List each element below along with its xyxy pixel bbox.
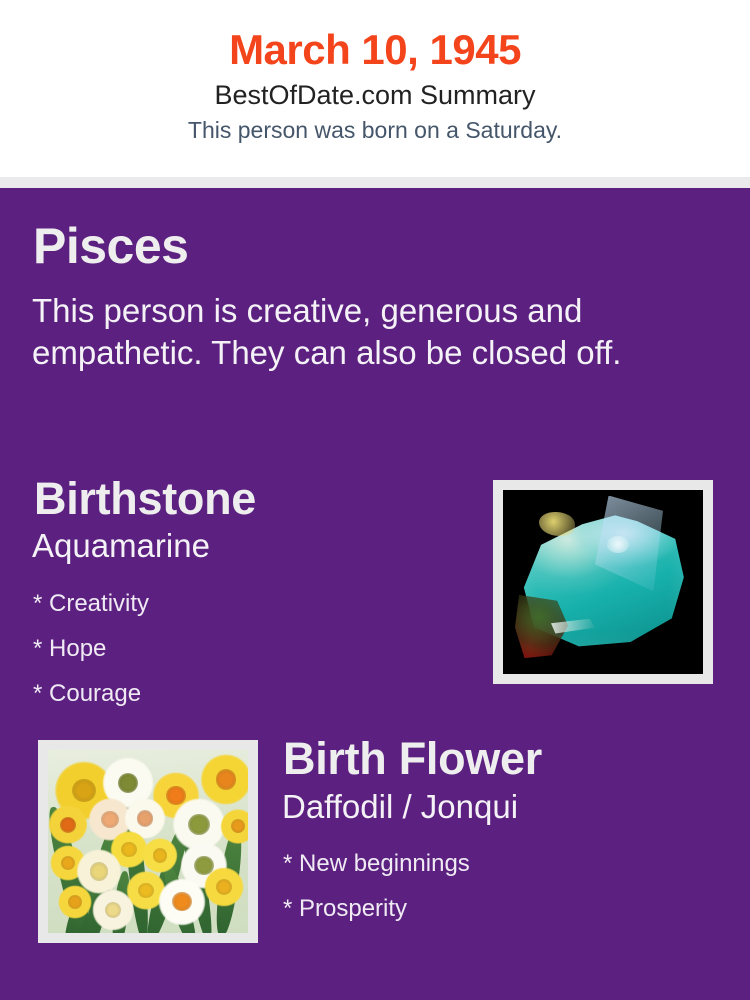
bloom-center bbox=[60, 817, 76, 833]
daffodil-bloom bbox=[48, 805, 88, 845]
daffodil-bloom bbox=[142, 838, 178, 874]
flower-photo-inner bbox=[48, 750, 248, 933]
list-item: * Hope bbox=[33, 626, 149, 671]
daffodil-bloom bbox=[200, 754, 248, 805]
zodiac-sign-title: Pisces bbox=[33, 221, 188, 271]
daffodil-bloom bbox=[58, 885, 92, 919]
birth-flower-heading: Birth Flower bbox=[283, 736, 542, 781]
daffodil-bloom bbox=[158, 878, 206, 925]
bloom-center bbox=[90, 862, 108, 880]
bloom-center bbox=[101, 811, 119, 828]
birth-flower-name: Daffodil / Jonqui bbox=[282, 789, 518, 825]
list-item: * New beginnings bbox=[283, 841, 470, 886]
bloom-center bbox=[61, 856, 75, 870]
page-title-date: March 10, 1945 bbox=[0, 0, 750, 74]
bloom-center bbox=[137, 810, 154, 827]
birthstone-photo-inner bbox=[503, 490, 703, 674]
bloom-center bbox=[118, 773, 139, 794]
birth-day-of-week-text: This person was born on a Saturday. bbox=[0, 111, 750, 143]
bloom-center bbox=[72, 779, 96, 803]
bloom-center bbox=[231, 819, 245, 833]
details-panel: Pisces This person is creative, generous… bbox=[0, 188, 750, 1000]
daffodil-bloom bbox=[92, 889, 134, 931]
bloom-center bbox=[105, 902, 122, 919]
bloom-center bbox=[138, 883, 154, 899]
header-divider bbox=[0, 177, 750, 188]
zodiac-description: This person is creative, generous and em… bbox=[32, 290, 712, 374]
site-summary-label: BestOfDate.com Summary bbox=[0, 74, 750, 111]
bloom-center bbox=[68, 895, 82, 908]
birthstone-heading: Birthstone bbox=[34, 476, 256, 521]
daffodil-cluster-art bbox=[48, 750, 248, 933]
birth-flower-image bbox=[38, 740, 258, 943]
birth-flower-traits-list: * New beginnings * Prosperity bbox=[283, 841, 470, 931]
crystal-highlight bbox=[607, 536, 629, 553]
bloom-center bbox=[153, 848, 167, 862]
list-item: * Prosperity bbox=[283, 886, 470, 931]
birthstone-name: Aquamarine bbox=[32, 528, 210, 564]
bloom-center bbox=[216, 769, 237, 790]
birthstone-image bbox=[493, 480, 713, 684]
summary-card: March 10, 1945 BestOfDate.com Summary Th… bbox=[0, 0, 750, 1000]
birthstone-traits-list: * Creativity * Hope * Courage bbox=[33, 581, 149, 716]
daffodil-bloom bbox=[204, 867, 244, 907]
daffodil-bloom bbox=[220, 809, 248, 845]
bloom-center bbox=[188, 814, 210, 835]
bloom-center bbox=[121, 842, 136, 857]
crystal-yellow-inclusion bbox=[539, 512, 575, 536]
list-item: * Courage bbox=[33, 671, 149, 716]
bloom-center bbox=[172, 892, 191, 911]
list-item: * Creativity bbox=[33, 581, 149, 626]
header: March 10, 1945 BestOfDate.com Summary Th… bbox=[0, 0, 750, 177]
bloom-center bbox=[216, 879, 232, 895]
